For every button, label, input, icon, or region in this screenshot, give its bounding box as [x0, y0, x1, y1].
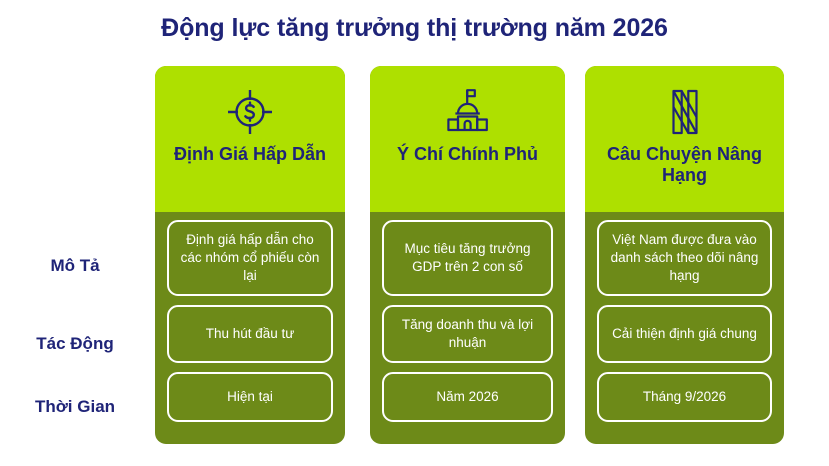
target-dollar-icon [224, 86, 276, 138]
letter-n-icon [659, 86, 711, 138]
column-upgrade-story: Câu Chuyện Nâng Hạng Việt Nam được đưa v… [585, 66, 784, 444]
cell-government-timing: Năm 2026 [382, 372, 553, 422]
cell-upgrade-story-timing: Tháng 9/2026 [597, 372, 772, 422]
column-title-government: Ý Chí Chính Phủ [383, 144, 552, 165]
row-label-column: Mô Tả Tác Động Thời Gian [0, 66, 150, 446]
cell-upgrade-story-description: Việt Nam được đưa vào danh sách theo dõi… [597, 220, 772, 296]
row-label-impact: Tác Động [0, 334, 150, 354]
column-header-upgrade-story: Câu Chuyện Nâng Hạng [585, 66, 784, 212]
cell-valuation-impact: Thu hút đầu tư [167, 305, 333, 363]
column-header-government: Ý Chí Chính Phủ [370, 66, 565, 212]
column-title-upgrade-story: Câu Chuyện Nâng Hạng [585, 144, 784, 186]
column-body-government: Mục tiêu tăng trưởng GDP trên 2 con số T… [370, 212, 565, 444]
column-body-valuation: Định giá hấp dẫn cho các nhóm cổ phiếu c… [155, 212, 345, 444]
column-body-upgrade-story: Việt Nam được đưa vào danh sách theo dõi… [585, 212, 784, 444]
row-label-description: Mô Tả [0, 256, 150, 276]
government-building-icon [442, 86, 494, 138]
cell-valuation-description: Định giá hấp dẫn cho các nhóm cổ phiếu c… [167, 220, 333, 296]
cell-government-impact: Tăng doanh thu và lợi nhuận [382, 305, 553, 363]
column-header-valuation: Định Giá Hấp Dẫn [155, 66, 345, 212]
column-valuation: Định Giá Hấp Dẫn Định giá hấp dẫn cho cá… [155, 66, 345, 444]
column-title-valuation: Định Giá Hấp Dẫn [160, 144, 340, 165]
cell-upgrade-story-impact: Cải thiện định giá chung [597, 305, 772, 363]
page-title: Động lực tăng trưởng thị trường năm 2026 [0, 14, 829, 43]
row-label-timing: Thời Gian [0, 397, 150, 417]
infographic-root: Động lực tăng trưởng thị trường năm 2026… [0, 0, 829, 466]
cell-government-description: Mục tiêu tăng trưởng GDP trên 2 con số [382, 220, 553, 296]
cell-valuation-timing: Hiện tại [167, 372, 333, 422]
column-government: Ý Chí Chính Phủ Mục tiêu tăng trưởng GDP… [370, 66, 565, 444]
comparison-grid: Mô Tả Tác Động Thời Gian [0, 66, 829, 446]
